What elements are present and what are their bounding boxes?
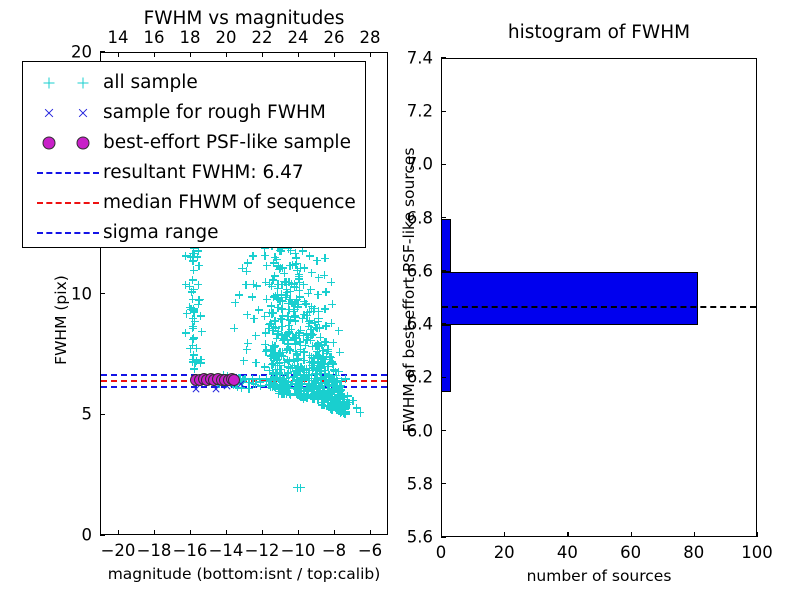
scatter-point-all-sample bbox=[263, 346, 271, 354]
scatter-point-all-sample bbox=[337, 408, 345, 416]
scatter-point-all-sample bbox=[314, 396, 322, 404]
scatter-point-all-sample bbox=[316, 363, 324, 371]
scatter-point-all-sample bbox=[267, 346, 275, 354]
scatter-point-all-sample bbox=[291, 317, 299, 325]
scatter-point-all-sample bbox=[271, 342, 279, 350]
scatter-point-all-sample bbox=[294, 387, 302, 395]
scatter-point-all-sample bbox=[316, 324, 324, 332]
scatter-point-all-sample bbox=[276, 297, 284, 305]
scatter-point-all-sample bbox=[320, 401, 328, 409]
scatter-point-all-sample bbox=[329, 400, 337, 408]
scatter-point-all-sample bbox=[286, 390, 294, 398]
scatter-point-all-sample bbox=[193, 253, 201, 261]
tick-mark bbox=[441, 270, 446, 271]
xaxis-top-tick-label: 26 bbox=[324, 28, 345, 47]
scatter-point-all-sample bbox=[313, 324, 321, 332]
scatter-point-all-sample bbox=[187, 253, 195, 261]
scatter-point-all-sample bbox=[299, 315, 307, 323]
scatter-point-all-sample bbox=[323, 391, 331, 399]
tick-mark bbox=[226, 52, 227, 57]
scatter-point-all-sample bbox=[321, 305, 329, 313]
scatter-point-all-sample bbox=[317, 394, 325, 402]
scatter-point-all-sample bbox=[294, 363, 302, 371]
scatter-point-all-sample bbox=[300, 264, 308, 272]
scatter-point-all-sample bbox=[308, 269, 316, 277]
scatter-point-all-sample bbox=[189, 324, 197, 332]
scatter-point-all-sample bbox=[342, 402, 350, 410]
scatter-point-all-sample bbox=[252, 332, 260, 340]
legend-line-glyph bbox=[37, 172, 99, 174]
scatter-point-all-sample bbox=[271, 292, 279, 300]
legend-marker-dot-icon bbox=[31, 128, 103, 158]
scatter-point-all-sample bbox=[300, 356, 308, 364]
scatter-point-all-sample bbox=[276, 365, 284, 373]
scatter-point-all-sample bbox=[318, 364, 326, 372]
scatter-point-all-sample bbox=[295, 286, 303, 294]
scatter-point-all-sample bbox=[299, 393, 307, 401]
xaxis-tick-label: 0 bbox=[436, 543, 447, 562]
scatter-point-all-sample bbox=[278, 323, 286, 331]
scatter-point-all-sample bbox=[235, 291, 243, 299]
scatter-point-all-sample bbox=[189, 250, 197, 258]
scatter-point-all-sample bbox=[315, 388, 323, 396]
scatter-point-all-sample bbox=[328, 358, 336, 366]
legend-item: resultant FWHM: 6.47 bbox=[31, 158, 355, 188]
scatter-point-all-sample bbox=[292, 283, 300, 291]
scatter-point-all-sample bbox=[312, 365, 320, 373]
scatter-point-all-sample bbox=[324, 402, 332, 410]
scatter-point-all-sample bbox=[271, 350, 279, 358]
scatter-point-all-sample bbox=[310, 388, 318, 396]
scatter-point-all-sample bbox=[188, 288, 196, 296]
scatter-point-all-sample bbox=[308, 362, 316, 370]
scatter-point-all-sample bbox=[252, 359, 260, 367]
scatter-point-all-sample bbox=[336, 396, 344, 404]
scatter-point-all-sample bbox=[190, 365, 198, 373]
xaxis-top-tick-label: 14 bbox=[108, 28, 129, 47]
tick-mark bbox=[154, 52, 155, 57]
histogram-bar bbox=[442, 272, 698, 325]
scatter-point-all-sample bbox=[310, 390, 318, 398]
scatter-point-all-sample bbox=[322, 322, 330, 330]
scatter-point-all-sample bbox=[240, 357, 248, 365]
scatter-point-all-sample bbox=[324, 345, 332, 353]
reference-line bbox=[101, 380, 387, 382]
scatter-point-all-sample bbox=[275, 359, 283, 367]
scatter-point-all-sample bbox=[297, 392, 305, 400]
scatter-point-all-sample bbox=[197, 312, 205, 320]
right-plot-area bbox=[442, 59, 756, 536]
left-xaxis-label: magnitude (bottom:isnt / top:calib) bbox=[100, 565, 388, 583]
scatter-point-all-sample bbox=[306, 317, 314, 325]
tick-mark bbox=[190, 52, 191, 57]
scatter-point-all-sample bbox=[314, 291, 322, 299]
scatter-point-all-sample bbox=[286, 316, 294, 324]
scatter-point-all-sample bbox=[331, 398, 339, 406]
scatter-point-all-sample bbox=[182, 252, 190, 260]
scatter-point-all-sample bbox=[261, 340, 269, 348]
scatter-point-all-sample bbox=[322, 390, 330, 398]
scatter-point-all-sample bbox=[326, 403, 334, 411]
scatter-point-all-sample bbox=[295, 275, 303, 283]
scatter-point-all-sample bbox=[300, 298, 308, 306]
tick-mark bbox=[334, 52, 335, 57]
scatter-point-all-sample bbox=[265, 280, 273, 288]
histogram-bar bbox=[442, 325, 451, 392]
scatter-point-all-sample bbox=[274, 361, 282, 369]
scatter-point-all-sample bbox=[291, 334, 299, 342]
scatter-point-all-sample bbox=[273, 356, 281, 364]
right-yaxis-label: FWHM of best-effort PSF-like sources bbox=[400, 80, 418, 500]
scatter-point-all-sample bbox=[283, 331, 291, 339]
scatter-point-all-sample bbox=[297, 393, 305, 401]
scatter-point-all-sample bbox=[271, 317, 279, 325]
scatter-point-all-sample bbox=[267, 353, 275, 361]
scatter-point-all-sample bbox=[316, 392, 324, 400]
scatter-point-all-sample bbox=[291, 358, 299, 366]
scatter-point-all-sample bbox=[323, 392, 331, 400]
scatter-point-all-sample bbox=[320, 387, 328, 395]
scatter-point-all-sample bbox=[294, 391, 302, 399]
scatter-point-all-sample bbox=[190, 286, 198, 294]
scatter-point-all-sample bbox=[341, 404, 349, 412]
legend-item-label: all sample bbox=[103, 74, 198, 93]
xaxis-tick-label: 20 bbox=[494, 543, 515, 562]
scatter-point-all-sample bbox=[296, 264, 304, 272]
scatter-point-all-sample bbox=[308, 342, 316, 350]
scatter-point-all-sample bbox=[197, 359, 205, 367]
scatter-point-all-sample bbox=[289, 355, 297, 363]
scatter-point-all-sample bbox=[281, 358, 289, 366]
scatter-point-all-sample bbox=[335, 391, 343, 399]
scatter-point-all-sample bbox=[309, 364, 317, 372]
scatter-point-all-sample bbox=[270, 344, 278, 352]
legend-item: best-effort PSF-like sample bbox=[31, 128, 355, 158]
scatter-point-all-sample bbox=[308, 353, 316, 361]
scatter-point-all-sample bbox=[289, 301, 297, 309]
scatter-point-all-sample bbox=[334, 388, 342, 396]
scatter-point-all-sample bbox=[295, 278, 303, 286]
right-panel-title: histogram of FWHM bbox=[441, 22, 757, 43]
scatter-point-all-sample bbox=[302, 300, 310, 308]
scatter-point-all-sample bbox=[271, 253, 279, 261]
scatter-point-all-sample bbox=[339, 400, 347, 408]
scatter-point-all-sample bbox=[326, 353, 334, 361]
xaxis-top-tick-label: 28 bbox=[360, 28, 381, 47]
scatter-point-all-sample bbox=[190, 334, 198, 342]
scatter-point-all-sample bbox=[189, 358, 197, 366]
scatter-point-all-sample bbox=[315, 390, 323, 398]
scatter-point-all-sample bbox=[335, 407, 343, 415]
scatter-point-all-sample bbox=[293, 300, 301, 308]
scatter-point-all-sample bbox=[308, 303, 316, 311]
scatter-point-all-sample bbox=[308, 357, 316, 365]
xaxis-tick-label: −16 bbox=[173, 541, 208, 560]
scatter-point-all-sample bbox=[299, 247, 307, 255]
scatter-point-all-sample bbox=[294, 303, 302, 311]
scatter-point-all-sample bbox=[274, 304, 282, 312]
scatter-point-all-sample bbox=[190, 305, 198, 313]
scatter-point-all-sample bbox=[323, 390, 331, 398]
scatter-point-all-sample bbox=[307, 325, 315, 333]
scatter-point-all-sample bbox=[278, 315, 286, 323]
scatter-point-all-sample bbox=[289, 363, 297, 371]
scatter-point-all-sample bbox=[334, 397, 342, 405]
scatter-point-all-sample bbox=[318, 341, 326, 349]
scatter-point-all-sample bbox=[319, 355, 327, 363]
scatter-point-all-sample bbox=[190, 351, 198, 359]
scatter-point-all-sample bbox=[281, 278, 289, 286]
xaxis-tick-label: 60 bbox=[620, 543, 641, 562]
scatter-point-all-sample bbox=[328, 392, 336, 400]
scatter-point-all-sample bbox=[319, 353, 327, 361]
scatter-point-all-sample bbox=[269, 323, 277, 331]
scatter-point-all-sample bbox=[286, 287, 294, 295]
scatter-point-all-sample bbox=[249, 252, 257, 260]
left-yaxis-label: FWHM (pix) bbox=[52, 220, 70, 420]
scatter-point-all-sample bbox=[309, 363, 317, 371]
scatter-point-all-sample bbox=[297, 393, 305, 401]
scatter-point-all-sample bbox=[301, 341, 309, 349]
scatter-point-all-sample bbox=[295, 273, 303, 281]
xaxis-top-tick-label: 20 bbox=[216, 28, 237, 47]
scatter-point-all-sample bbox=[189, 315, 197, 323]
xaxis-tick-label: −18 bbox=[137, 541, 172, 560]
scatter-point-all-sample bbox=[301, 391, 309, 399]
scatter-point-all-sample bbox=[336, 387, 344, 395]
scatter-point-all-sample bbox=[262, 348, 270, 356]
scatter-point-all-sample bbox=[336, 398, 344, 406]
scatter-point-all-sample bbox=[297, 390, 305, 398]
scatter-point-all-sample bbox=[323, 338, 331, 346]
scatter-point-all-sample bbox=[340, 397, 348, 405]
scatter-point-all-sample bbox=[294, 388, 302, 396]
scatter-point-all-sample bbox=[265, 324, 273, 332]
scatter-point-all-sample bbox=[336, 404, 344, 412]
scatter-point-all-sample bbox=[324, 398, 332, 406]
scatter-point-all-sample bbox=[320, 339, 328, 347]
tick-mark bbox=[226, 530, 227, 535]
scatter-point-all-sample bbox=[271, 272, 279, 280]
scatter-point-all-sample bbox=[306, 307, 314, 315]
scatter-point-all-sample bbox=[289, 333, 297, 341]
scatter-point-all-sample bbox=[318, 391, 326, 399]
figure-canvas: FWHM vs magnitudes 1416182022242628 −20−… bbox=[0, 0, 800, 600]
scatter-point-all-sample bbox=[327, 390, 335, 398]
scatter-point-all-sample bbox=[323, 349, 331, 357]
scatter-point-all-sample bbox=[305, 391, 313, 399]
scatter-point-all-sample bbox=[304, 309, 312, 317]
scatter-point-all-sample bbox=[183, 310, 191, 318]
tick-mark bbox=[441, 430, 446, 431]
scatter-point-all-sample bbox=[321, 338, 329, 346]
scatter-point-all-sample bbox=[315, 352, 323, 360]
scatter-point-all-sample bbox=[276, 361, 284, 369]
scatter-point-all-sample bbox=[244, 339, 252, 347]
scatter-point-all-sample bbox=[336, 402, 344, 410]
scatter-point-all-sample bbox=[195, 262, 203, 270]
scatter-point-all-sample bbox=[318, 401, 326, 409]
scatter-point-all-sample bbox=[297, 326, 305, 334]
scatter-point-all-sample bbox=[182, 329, 190, 337]
scatter-point-all-sample bbox=[278, 281, 286, 289]
scatter-point-all-sample bbox=[278, 323, 286, 331]
scatter-point-all-sample bbox=[297, 346, 305, 354]
scatter-point-all-sample bbox=[295, 389, 303, 397]
scatter-point-all-sample bbox=[336, 408, 344, 416]
scatter-point-all-sample bbox=[190, 309, 198, 317]
tick-mark bbox=[631, 532, 632, 537]
scatter-point-all-sample bbox=[305, 322, 313, 330]
reference-line bbox=[101, 374, 387, 376]
scatter-point-all-sample bbox=[314, 341, 322, 349]
scatter-point-all-sample bbox=[319, 398, 327, 406]
scatter-point-all-sample bbox=[319, 388, 327, 396]
scatter-point-all-sample bbox=[331, 398, 339, 406]
xaxis-top-tick-label: 24 bbox=[288, 28, 309, 47]
scatter-point-all-sample bbox=[189, 323, 197, 331]
scatter-point-all-sample bbox=[196, 296, 204, 304]
scatter-point-all-sample bbox=[300, 348, 308, 356]
scatter-point-all-sample bbox=[301, 393, 309, 401]
scatter-point-all-sample bbox=[296, 338, 304, 346]
scatter-point-all-sample bbox=[268, 320, 276, 328]
scatter-point-all-sample bbox=[297, 484, 305, 492]
tick-mark bbox=[370, 52, 371, 57]
scatter-point-all-sample bbox=[307, 286, 315, 294]
scatter-point-all-sample bbox=[287, 391, 295, 399]
scatter-point-all-sample bbox=[186, 303, 194, 311]
scatter-point-all-sample bbox=[277, 297, 285, 305]
scatter-point-all-sample bbox=[340, 409, 348, 417]
scatter-point-all-sample bbox=[294, 300, 302, 308]
scatter-point-all-sample bbox=[190, 307, 198, 315]
scatter-point-all-sample bbox=[261, 363, 269, 371]
scatter-point-all-sample bbox=[286, 346, 294, 354]
scatter-point-all-sample bbox=[334, 407, 342, 415]
scatter-point-all-sample bbox=[292, 313, 300, 321]
scatter-point-all-sample bbox=[243, 311, 251, 319]
scatter-point-all-sample bbox=[335, 400, 343, 408]
scatter-point-all-sample bbox=[272, 324, 280, 332]
scatter-point-all-sample bbox=[333, 398, 341, 406]
scatter-point-all-sample bbox=[338, 392, 346, 400]
tick-mark bbox=[100, 293, 105, 294]
scatter-point-all-sample bbox=[315, 315, 323, 323]
scatter-point-all-sample bbox=[335, 392, 343, 400]
tick-mark bbox=[118, 52, 119, 57]
tick-mark bbox=[567, 532, 568, 537]
legend-marker-dashed-line-icon bbox=[31, 158, 103, 188]
scatter-point-all-sample bbox=[309, 392, 317, 400]
scatter-point-all-sample bbox=[289, 261, 297, 269]
scatter-point-all-sample bbox=[296, 390, 304, 398]
scatter-point-all-sample bbox=[339, 396, 347, 404]
scatter-point-all-sample bbox=[315, 342, 323, 350]
scatter-point-all-sample bbox=[287, 280, 295, 288]
scatter-point-all-sample bbox=[341, 403, 349, 411]
scatter-point-all-sample bbox=[276, 264, 284, 272]
scatter-point-all-sample bbox=[274, 295, 282, 303]
scatter-point-all-sample bbox=[277, 305, 285, 313]
scatter-point-all-sample bbox=[338, 406, 346, 414]
scatter-point-all-sample bbox=[321, 397, 329, 405]
xaxis-top-tick-label: 22 bbox=[252, 28, 273, 47]
scatter-point-all-sample bbox=[309, 394, 317, 402]
scatter-point-all-sample bbox=[330, 395, 338, 403]
scatter-point-all-sample bbox=[321, 394, 329, 402]
scatter-point-all-sample bbox=[182, 281, 190, 289]
scatter-point-all-sample bbox=[324, 395, 332, 403]
legend-item: sample for rough FWHM bbox=[31, 98, 355, 128]
scatter-point-all-sample bbox=[242, 281, 250, 289]
scatter-point-all-sample bbox=[271, 354, 279, 362]
histogram-bar bbox=[442, 219, 451, 272]
legend-marker-dashed-line-icon bbox=[31, 188, 103, 218]
scatter-point-all-sample bbox=[275, 265, 283, 273]
scatter-point-all-sample bbox=[341, 402, 349, 410]
scatter-point-all-sample bbox=[300, 332, 308, 340]
scatter-point-all-sample bbox=[290, 283, 298, 291]
scatter-point-all-sample bbox=[268, 310, 276, 318]
scatter-point-all-sample bbox=[331, 402, 339, 410]
tick-mark bbox=[441, 377, 446, 378]
scatter-point-all-sample bbox=[274, 330, 282, 338]
scatter-point-all-sample bbox=[321, 356, 329, 364]
scatter-point-all-sample bbox=[284, 356, 292, 364]
scatter-point-all-sample bbox=[272, 365, 280, 373]
scatter-point-all-sample bbox=[278, 290, 286, 298]
yaxis-tick-label: 20 bbox=[71, 43, 92, 62]
scatter-point-all-sample bbox=[319, 388, 327, 396]
scatter-point-all-sample bbox=[300, 348, 308, 356]
scatter-point-all-sample bbox=[341, 404, 349, 412]
scatter-point-all-sample bbox=[303, 394, 311, 402]
scatter-point-all-sample bbox=[336, 348, 344, 356]
scatter-point-all-sample bbox=[293, 295, 301, 303]
scatter-point-all-sample bbox=[267, 302, 275, 310]
tick-mark bbox=[441, 483, 446, 484]
scatter-point-all-sample bbox=[315, 307, 323, 315]
scatter-point-all-sample bbox=[296, 330, 304, 338]
scatter-point-all-sample bbox=[189, 335, 197, 343]
scatter-point-all-sample bbox=[284, 340, 292, 348]
scatter-point-all-sample bbox=[323, 388, 331, 396]
scatter-point-all-sample bbox=[327, 319, 335, 327]
scatter-point-all-sample bbox=[285, 278, 293, 286]
scatter-point-all-sample bbox=[187, 305, 195, 313]
scatter-point-all-sample bbox=[338, 398, 346, 406]
scatter-point-all-sample bbox=[310, 318, 318, 326]
scatter-point-all-sample bbox=[343, 400, 351, 408]
scatter-point-all-sample bbox=[328, 300, 336, 308]
yaxis-tick-label: 5.6 bbox=[407, 528, 433, 547]
legend-item-label: median FHWM of sequence bbox=[103, 194, 356, 213]
scatter-point-all-sample bbox=[194, 300, 202, 308]
scatter-point-all-sample bbox=[191, 250, 199, 258]
scatter-point-all-sample bbox=[322, 288, 330, 296]
xaxis-tick-label: −10 bbox=[281, 541, 316, 560]
scatter-point-all-sample bbox=[306, 319, 314, 327]
scatter-point-all-sample bbox=[275, 352, 283, 360]
scatter-point-all-sample bbox=[313, 257, 321, 265]
scatter-point-all-sample bbox=[314, 340, 322, 348]
scatter-point-all-sample bbox=[273, 356, 281, 364]
scatter-point-all-sample bbox=[303, 330, 311, 338]
scatter-point-all-sample bbox=[340, 397, 348, 405]
scatter-point-all-sample bbox=[314, 360, 322, 368]
scatter-point-all-sample bbox=[198, 328, 206, 336]
